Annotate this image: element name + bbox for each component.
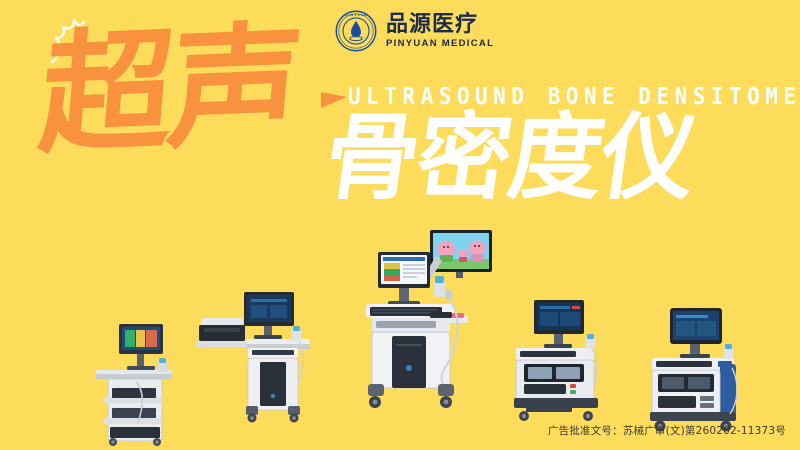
device-lineup — [0, 0, 800, 450]
poster-canvas: 超声 P I N Y U A N 品源医疗 PINYUAN MEDICAL UL… — [0, 0, 800, 450]
device-ultrasound-bone-densitometer-compact-workstation — [502, 298, 614, 424]
device-ultrasound-bone-densitometer-cart-trolley — [72, 322, 190, 446]
device-ultrasound-bone-densitometer-with-printer — [196, 288, 322, 424]
device-ultrasound-bone-densitometer-blue-panel-cart — [640, 306, 752, 434]
ad-approval-disclaimer: 广告批准文号：苏械广审(文)第260202-11373号 — [548, 423, 786, 438]
